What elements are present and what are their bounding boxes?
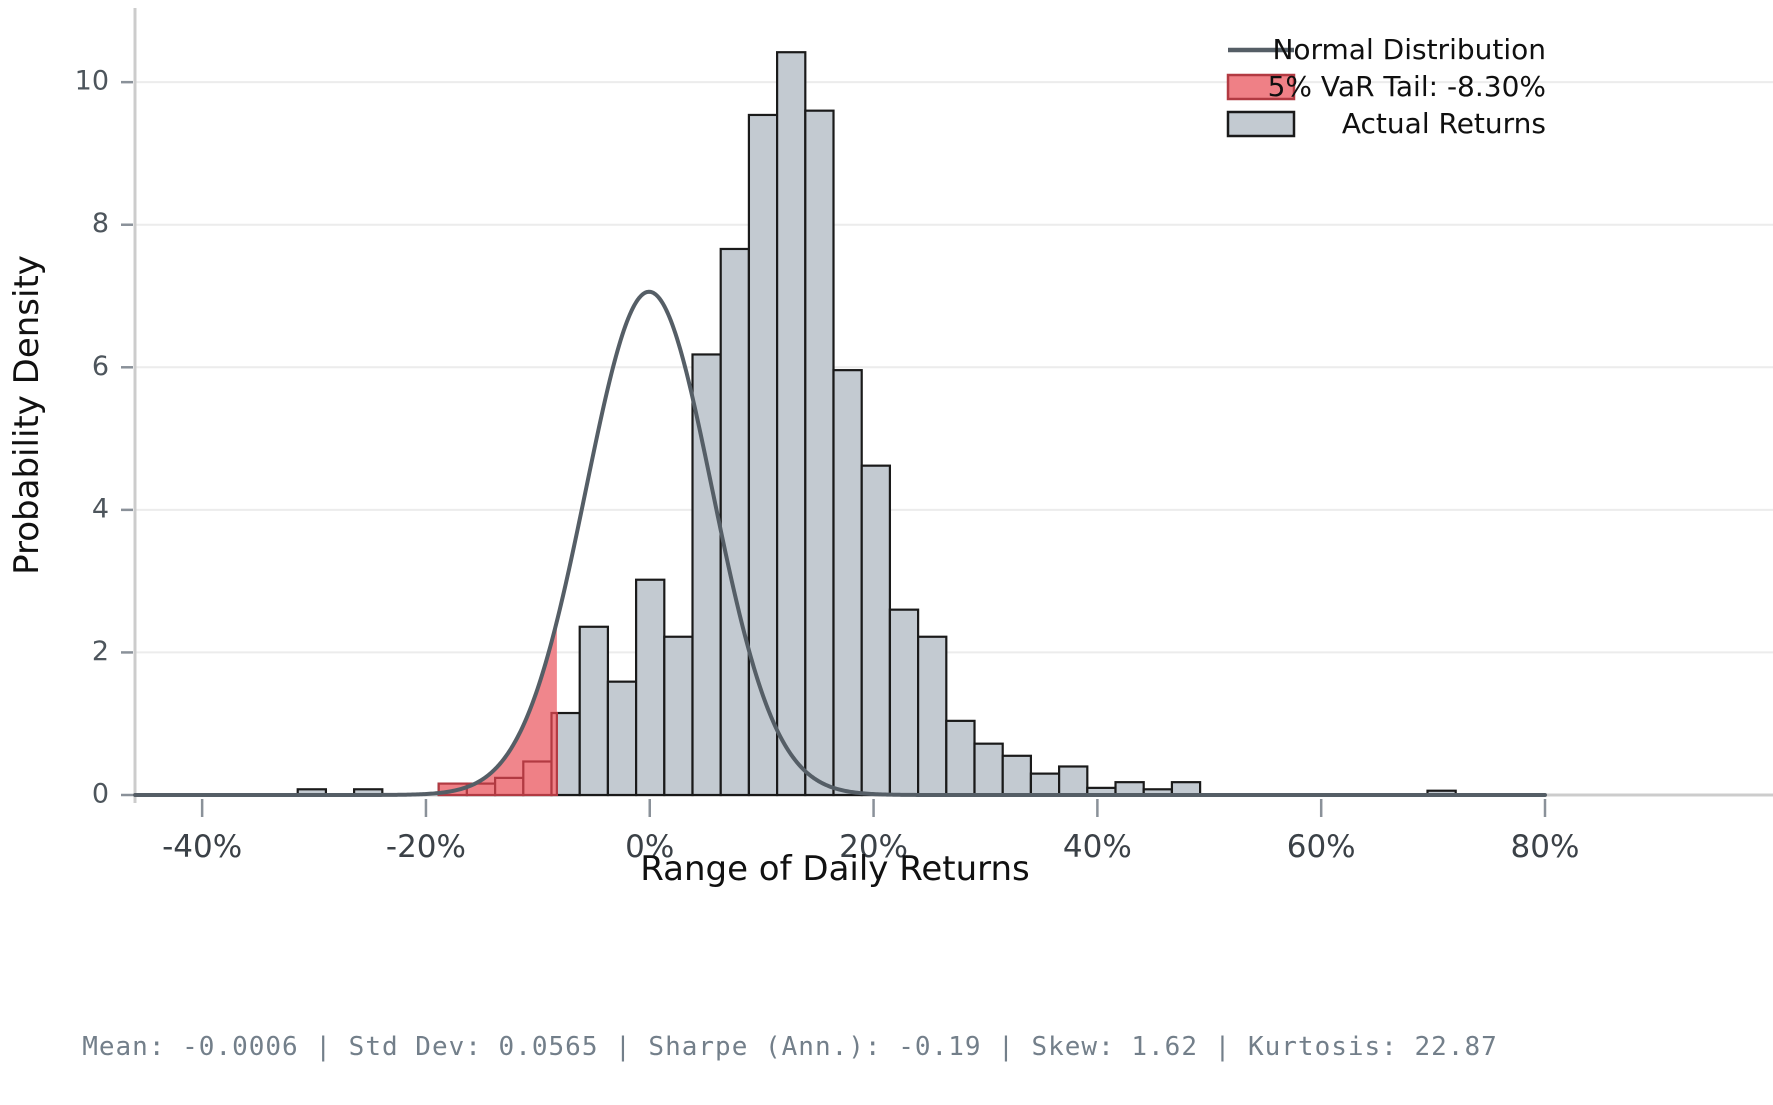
x-tick-label: -20% bbox=[386, 829, 466, 865]
footer-statistics: Mean: -0.0006 | Std Dev: 0.0565 | Sharpe… bbox=[82, 1032, 1498, 1062]
histogram-bar bbox=[862, 466, 890, 795]
histogram-bar bbox=[834, 370, 862, 795]
y-tick-label: 8 bbox=[92, 208, 109, 239]
histogram-bar bbox=[580, 627, 608, 795]
histogram-bar bbox=[608, 682, 636, 795]
y-tick-label: 2 bbox=[92, 636, 109, 667]
histogram-bar bbox=[1059, 766, 1087, 795]
y-tick-label: 10 bbox=[75, 66, 109, 97]
legend-label: 5% VaR Tail: -8.30% bbox=[1268, 70, 1546, 103]
x-tick-label: 80% bbox=[1511, 829, 1580, 865]
returns-distribution-chart: -40%-20%0%20%40%60%80% 0246810 Range of … bbox=[0, 0, 1773, 1105]
histogram-bar bbox=[1031, 774, 1059, 795]
legend-item[interactable]: 5% VaR Tail: -8.30% bbox=[1228, 70, 1546, 103]
chart-legend[interactable]: Normal Distribution5% VaR Tail: -8.30%Ac… bbox=[1228, 33, 1546, 140]
y-tick-label: 4 bbox=[92, 493, 109, 524]
histogram-bar bbox=[918, 637, 946, 795]
histogram-bar bbox=[636, 580, 664, 795]
var-tail-bar bbox=[495, 778, 523, 795]
y-tick-label: 0 bbox=[92, 779, 109, 810]
histogram-bar bbox=[946, 721, 974, 795]
x-tick-label: 60% bbox=[1287, 829, 1356, 865]
x-axis-title: Range of Daily Returns bbox=[640, 849, 1030, 889]
legend-item[interactable]: Normal Distribution bbox=[1228, 33, 1546, 66]
legend-item[interactable]: Actual Returns bbox=[1228, 107, 1546, 140]
x-tick-label: 40% bbox=[1063, 829, 1132, 865]
legend-label: Normal Distribution bbox=[1272, 33, 1546, 66]
y-axis-title: Probability Density bbox=[7, 255, 47, 575]
chart-figure: -40%-20%0%20%40%60%80% 0246810 Range of … bbox=[0, 0, 1773, 1105]
var-tail-bar bbox=[523, 761, 551, 795]
legend-patch-swatch bbox=[1228, 112, 1294, 136]
y-tick-label: 6 bbox=[92, 351, 109, 382]
histogram-bar bbox=[664, 637, 692, 795]
var-tail-bar bbox=[552, 713, 557, 795]
histogram-bar bbox=[777, 52, 805, 795]
histogram-bar bbox=[805, 111, 833, 795]
histogram-bar bbox=[721, 249, 749, 795]
histogram-bar bbox=[975, 744, 1003, 795]
histogram-bar bbox=[1003, 756, 1031, 795]
x-tick-label: -40% bbox=[162, 829, 242, 865]
legend-label: Actual Returns bbox=[1342, 107, 1546, 140]
histogram-bar bbox=[890, 610, 918, 795]
